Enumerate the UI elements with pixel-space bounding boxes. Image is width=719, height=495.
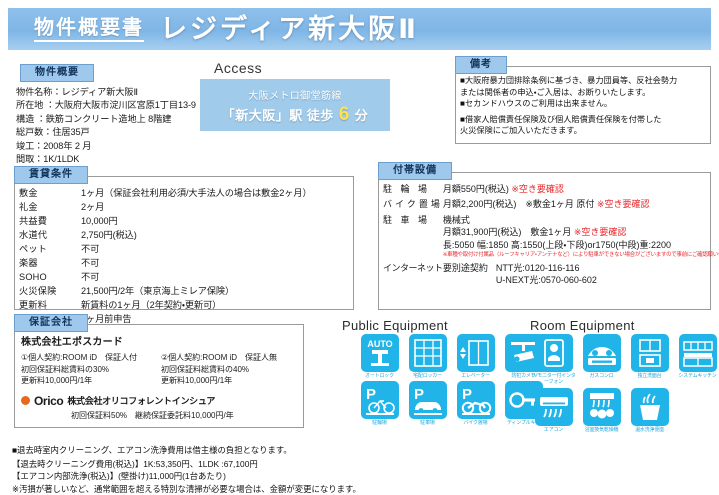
overview-line: 竣工：2008年 2 月 [16,140,219,153]
table-row: 礼金 2ヶ月 [19,201,312,215]
facility-key: 駐 車 場 [383,214,443,262]
parking-price-row: 月額31,900円(税込) 敷金1ヶ月 ※空き要確認 [443,226,719,238]
access-section: Access 大阪メトロ御堂筋線 「新大阪」駅 徒歩 6 分 [200,60,405,131]
equipment-caption: システムキッチン [678,373,716,379]
internet-value: 要別途契約 NTT光:0120-116-116 U-NEXT光:0570-060… [443,262,719,290]
internet-contract-note: 要別途契約 [443,262,488,274]
rent-key: 礼金 [19,201,81,215]
equipment-caption: エアコン [544,427,563,433]
property-overview-section: 物件概要 物件名称：レジディア新大阪Ⅱ 所在地 ：大阪府大阪市淀川区宮原1丁目1… [14,62,219,166]
orico-fee-note: 初回保証料50% 継続保証委託料10,000円/年 [71,410,303,421]
facility-note: ※空き要確認 [597,199,650,209]
note-line: ※汚損が著しいなど、通常範囲を超える特別な清掃が必要な場合は、金額が変更になりま… [12,483,572,495]
overview-line: 間取：1K/1LDK [16,153,219,166]
table-row: 共益費 10,000円 [19,215,312,229]
rent-value: 1ヶ月（保証会社利用必須/大手法人の場合は敷金2ヶ月） [81,187,312,201]
note-line: 【エアコン内部洗浄(税込)】(壁掛け)11,000円(1台あたり) [12,470,572,482]
facility-price: 月額2,200円(税込) ※敷金1ヶ月 原付 [443,199,595,209]
facility-value: 機械式 月額31,900円(税込) 敷金1ヶ月 ※空き要確認 長:5050 幅:… [443,214,719,262]
access-box: 大阪メトロ御堂筋線 「新大阪」駅 徒歩 6 分 [200,79,390,131]
rent-conditions-section: 賃貸条件 敷金 1ヶ月（保証会社利用必須/大手法人の場合は敷金2ヶ月） 礼金 2… [14,176,354,310]
access-station-walk: 「新大阪」駅 徒歩 6 分 [222,105,369,124]
plan-line: 更新料10,000円/1年 [21,375,151,387]
equipment-item-air-conditioner: エアコン [530,388,577,433]
room-equipment-grid: TVモニター付インターフォン ガスコンロ [530,334,719,433]
orico-row: Orico 株式会社オリコフォレントインシュア [21,394,303,408]
overview-line: 総戸数：住居35戸 [16,126,219,139]
equipment-caption: 浴室換気乾燥機 [585,427,619,433]
property-title: レジディア新大阪Ⅱ [160,15,419,43]
rent-value: 21,500円/2年（東京海上ミレア保険） [81,285,312,299]
parking-dimensions: 長:5050 幅:1850 高:1550(上段・下段)or1750(中段)重:2… [443,239,719,251]
remark-line: ■借家人賠償責任保険及び個人賠償責任保険を付帯した [460,114,706,126]
rent-key: 楽器 [19,257,81,271]
overview-line: 構造 ：鉄筋コンクリート造地上 8階建 [16,113,219,126]
table-row: 駐 輪 場 月額550円(税込) ※空き要確認 [383,183,719,198]
rent-key: 火災保険 [19,285,81,299]
public-equipment-grid: AUTO オートロック 宅配ロッカー [356,334,547,427]
equipment-caption: 駐車場 [420,420,434,426]
parking-type: 機械式 [443,214,719,226]
remark-line: ■大阪府暴力団排除条例に基づき、暴力団員等、反社会勢力 [460,75,706,87]
rent-value: 不可 [81,271,312,285]
access-station-name: 「新大阪」駅 [222,105,303,124]
bicycle-parking-icon: P [361,381,399,419]
equipment-item-elevator: エレベーター [452,334,499,379]
rent-key: SOHO [19,271,81,285]
motorbike-parking-icon: P [457,381,495,419]
equipment-item-washbasin: 独立洗面台 [626,334,673,386]
facility-value: 月額550円(税込) ※空き要確認 [443,183,719,198]
remark-line: 火災保険にご加入いただきます。 [460,125,706,137]
guarantor-tab: 保証会社 [14,314,88,332]
remarks-body: ■大阪府暴力団排除条例に基づき、暴力団員等、反社会勢力 または関係者の申込・ご入… [456,67,710,137]
equipment-caption: 宅配ロッカー [413,373,442,379]
equipment-item-tv-intercom: TVモニター付インターフォン [530,334,577,386]
table-row: 敷金 1ヶ月（保証会社利用必須/大手法人の場合は敷金2ヶ月） [19,187,312,201]
equipment-item-car-parking: P 駐車場 [404,381,451,426]
access-walk-unit: 分 [355,105,369,124]
equipment-caption: エレベーター [461,373,490,379]
parking-disclaimer: ※車種や取付け付属品（ルーフキャリア・アンテナなど）により駐車ができない場合がご… [443,251,719,259]
table-row: 駐 車 場 機械式 月額31,900円(税込) 敷金1ヶ月 ※空き要確認 長:5… [383,214,719,262]
washbasin-icon [631,334,669,372]
svg-text:P: P [461,386,471,403]
rent-key: 更新料 [19,299,81,313]
svg-text:AUTO: AUTO [367,339,392,349]
rent-value: 2ヶ月 [81,201,312,215]
gas-stove-icon [583,334,621,372]
guarantor-plan: ①個人契約:ROOM iD 保証人付 初回保証料総賃料の30% 更新料10,00… [21,352,151,387]
document-type-label: 物件概要書 [34,17,144,42]
table-row: 火災保険 21,500円/2年（東京海上ミレア保険） [19,285,312,299]
rent-key: 共益費 [19,215,81,229]
guarantor-plan: ②個人契約:ROOM iD 保証人無 初回保証料総賃料の40% 更新料10,00… [161,352,291,387]
equipment-item-delivery-locker: 宅配ロッカー [404,334,451,379]
remark-line: ■セカンドハウスのご利用は出来ません。 [460,98,706,110]
orico-brand: Orico [34,394,63,408]
rent-value: 不可 [81,243,312,257]
rent-key: 敷金 [19,187,81,201]
equipment-caption: 温水洗浄便座 [635,427,664,433]
guarantor-company-name: 株式会社エポスカード [21,333,303,348]
auto-lock-icon: AUTO [361,334,399,372]
equipment-caption: 駐輪場 [372,420,386,426]
guarantor-plans: ①個人契約:ROOM iD 保証人付 初回保証料総賃料の30% 更新料10,00… [21,352,303,387]
plan-line: ①個人契約:ROOM iD 保証人付 [21,352,151,364]
facilities-section: 付帯設備 駐 輪 場 月額550円(税込) ※空き要確認 バイク置場 月額2,2… [378,172,711,310]
plan-line: 初回保証料総賃料の30% [21,364,151,376]
table-row: SOHO 不可 [19,271,312,285]
rent-key: 水道代 [19,229,81,243]
equipment-caption: バイク置場 [464,420,488,426]
room-equipment-title: Room Equipment [530,318,635,333]
facilities-table: 駐 輪 場 月額550円(税込) ※空き要確認 バイク置場 月額2,200円(税… [383,183,719,290]
svg-text:P: P [365,386,375,403]
access-walk-minutes: 6 [338,105,351,124]
table-row: ペット 不可 [19,243,312,257]
property-summary-document: 物件概要書 レジディア新大阪Ⅱ 物件概要 物件名称：レジディア新大阪Ⅱ 所在地 … [0,0,719,480]
table-row: バイク置場 月額2,200円(税込) ※敷金1ヶ月 原付 ※空き要確認 [383,198,719,213]
washlet-icon [631,388,669,426]
table-row: インターネット 要別途契約 NTT光:0120-116-116 U-NEXT光:… [383,262,719,290]
access-line-name: 大阪メトロ御堂筋線 [248,87,342,102]
equipment-caption: ガスコンロ [589,373,613,379]
equipment-caption: 独立洗面台 [637,373,661,379]
air-conditioner-icon [535,388,573,426]
delivery-locker-icon [409,334,447,372]
table-row: 更新料 新賃料の1ヶ月（2年契約・更新可） [19,299,312,313]
equipment-item-motorbike-parking: P バイク置場 [452,381,499,426]
parking-availability-note: ※空き要確認 [574,227,627,237]
guarantor-section: 保証会社 株式会社エポスカード ①個人契約:ROOM iD 保証人付 初回保証料… [14,324,304,428]
rent-conditions-tab: 賃貸条件 [14,166,88,184]
rent-key: ペット [19,243,81,257]
table-row: 水道代 2,750円(税込) [19,229,312,243]
equipment-item-system-kitchen: システムキッチン [674,334,719,386]
orico-company-name: 株式会社オリコフォレントインシュア [67,394,215,407]
access-title: Access [214,60,405,76]
document-header: 物件概要書 レジディア新大阪Ⅱ [8,8,711,50]
public-equipment-title: Public Equipment [342,318,448,333]
internet-provider: U-NEXT光:0570-060-602 [496,274,597,286]
facility-key: 駐 輪 場 [383,183,443,198]
facilities-tab: 付帯設備 [378,162,452,180]
facility-key: バイク置場 [383,198,443,213]
rent-value: 10,000円 [81,215,312,229]
access-walk-label: 徒歩 [307,105,334,124]
elevator-icon [457,334,495,372]
internet-key: インターネット [383,262,443,290]
remark-line: または関係者の申込・ご入居は、お断りいたします。 [460,87,706,99]
car-parking-icon: P [409,381,447,419]
property-overview-list: 物件名称：レジディア新大阪Ⅱ 所在地 ：大阪府大阪市淀川区宮原1丁目13-9 構… [16,86,219,166]
equipment-item-bicycle-parking: P 駐輪場 [356,381,403,426]
table-row: 楽器 不可 [19,257,312,271]
equipment-item-washlet: 温水洗浄便座 [626,388,673,433]
facility-value: 月額2,200円(税込) ※敷金1ヶ月 原付 ※空き要確認 [443,198,719,213]
overview-line: 物件名称：レジディア新大阪Ⅱ [16,86,219,99]
equipment-caption: オートロック [365,373,394,379]
plan-line: ②個人契約:ROOM iD 保証人無 [161,352,291,364]
rent-value: 新賃料の1ヶ月（2年契約・更新可） [81,299,312,313]
bath-dryer-icon [583,388,621,426]
plan-line: 初回保証料総賃料の40% [161,364,291,376]
orico-logo-icon [21,396,30,405]
system-kitchen-icon [679,334,717,372]
note-line: 【退去時クリーニング費用(税込)】1K:53,350円、1LDK :67,100… [12,458,572,470]
overview-line: 所在地 ：大阪府大阪市淀川区宮原1丁目13-9 [16,99,219,112]
property-overview-tab: 物件概要 [20,64,94,82]
equipment-item-empty [674,388,719,433]
rent-value: 不可 [81,257,312,271]
remarks-tab: 備考 [455,56,507,74]
parking-price: 月額31,900円(税込) 敷金1ヶ月 [443,227,572,237]
equipment-item-auto-lock: AUTO オートロック [356,334,403,379]
facility-price: 月額550円(税込) [443,184,509,194]
facility-note: ※空き要確認 [511,184,564,194]
note-line: ■退去時室内クリーニング、エアコン洗浄費用は借主様の負担となります。 [12,444,572,456]
plan-line: 更新料10,000円/1年 [161,375,291,387]
internet-provider: NTT光:0120-116-116 [496,262,597,274]
rent-value: 2,750円(税込) [81,229,312,243]
svg-text:P: P [413,386,423,403]
tv-intercom-icon [535,334,573,372]
equipment-item-bath-dryer: 浴室換気乾燥機 [578,388,625,433]
equipment-item-gas-stove: ガスコンロ [578,334,625,386]
bottom-notes: ■退去時室内クリーニング、エアコン洗浄費用は借主様の負担となります。 【退去時ク… [12,444,572,495]
remarks-section: 備考 ■大阪府暴力団排除条例に基づき、暴力団員等、反社会勢力 または関係者の申込… [455,66,711,144]
equipment-caption: TVモニター付インターフォン [530,373,577,386]
